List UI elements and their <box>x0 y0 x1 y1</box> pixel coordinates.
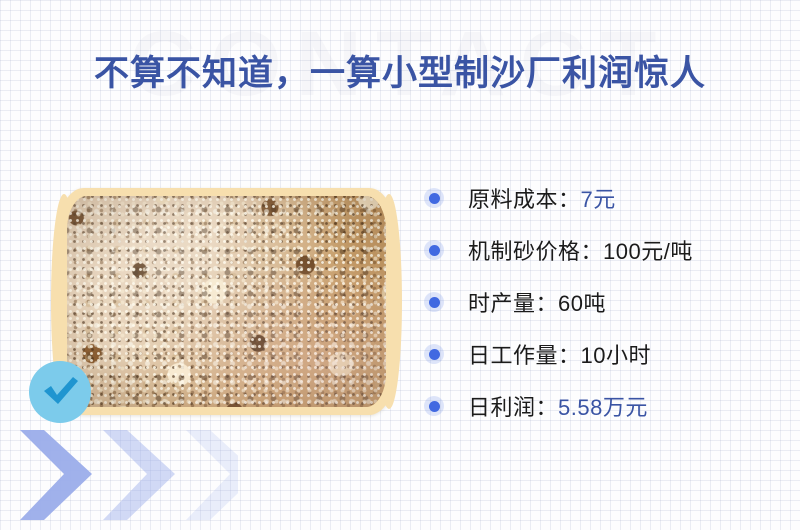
list-item: 日利润：5.58万元 <box>424 380 776 432</box>
list-item: 时产量：60吨 <box>424 276 776 328</box>
bullet-dot-icon <box>424 344 444 364</box>
spec-label: 机制砂价格： <box>468 239 603 264</box>
spec-label: 原料成本： <box>468 187 581 212</box>
spec-label: 日利润： <box>468 395 558 420</box>
product-photo <box>58 188 395 415</box>
bullet-dot-icon <box>424 292 444 312</box>
bullet-dot-icon <box>424 188 444 208</box>
spec-value: 10小时 <box>581 343 651 368</box>
list-item: 日工作量：10小时 <box>424 328 776 380</box>
spec-text: 日工作量：10小时 <box>468 338 651 370</box>
spec-text: 机制砂价格：100元/吨 <box>468 234 693 266</box>
spec-value: 60吨 <box>558 291 606 316</box>
infographic-canvas: CONTACT 不算不知道，一算小型制沙厂利润惊人 <box>0 0 800 530</box>
list-item: 机制砂价格：100元/吨 <box>424 224 776 276</box>
bullet-dot-icon <box>424 396 444 416</box>
page-title: 不算不知道，一算小型制沙厂利润惊人 <box>0 51 800 97</box>
spec-list: 原料成本：7元 机制砂价格：100元/吨 时产量：60吨 日工作量：10小时 日… <box>424 172 776 432</box>
spec-label: 日工作量： <box>468 343 581 368</box>
list-item: 原料成本：7元 <box>424 172 776 224</box>
spec-text: 日利润：5.58万元 <box>468 390 648 422</box>
spec-label: 时产量： <box>468 291 558 316</box>
sand-shading <box>67 196 386 407</box>
chevron-right-icon-3 <box>186 430 238 520</box>
check-badge <box>29 361 91 423</box>
chevron-decoration <box>8 424 238 524</box>
bullet-dot-icon <box>424 240 444 260</box>
check-icon <box>40 375 80 409</box>
spec-text: 原料成本：7元 <box>468 182 616 214</box>
spec-value: 5.58万元 <box>558 395 648 420</box>
spec-value: 100元/吨 <box>603 239 693 264</box>
photo-image <box>67 196 386 407</box>
chevron-right-icon-1 <box>20 430 92 520</box>
spec-text: 时产量：60吨 <box>468 286 606 318</box>
chevron-right-icon-2 <box>103 430 175 520</box>
spec-value: 7元 <box>581 187 616 212</box>
